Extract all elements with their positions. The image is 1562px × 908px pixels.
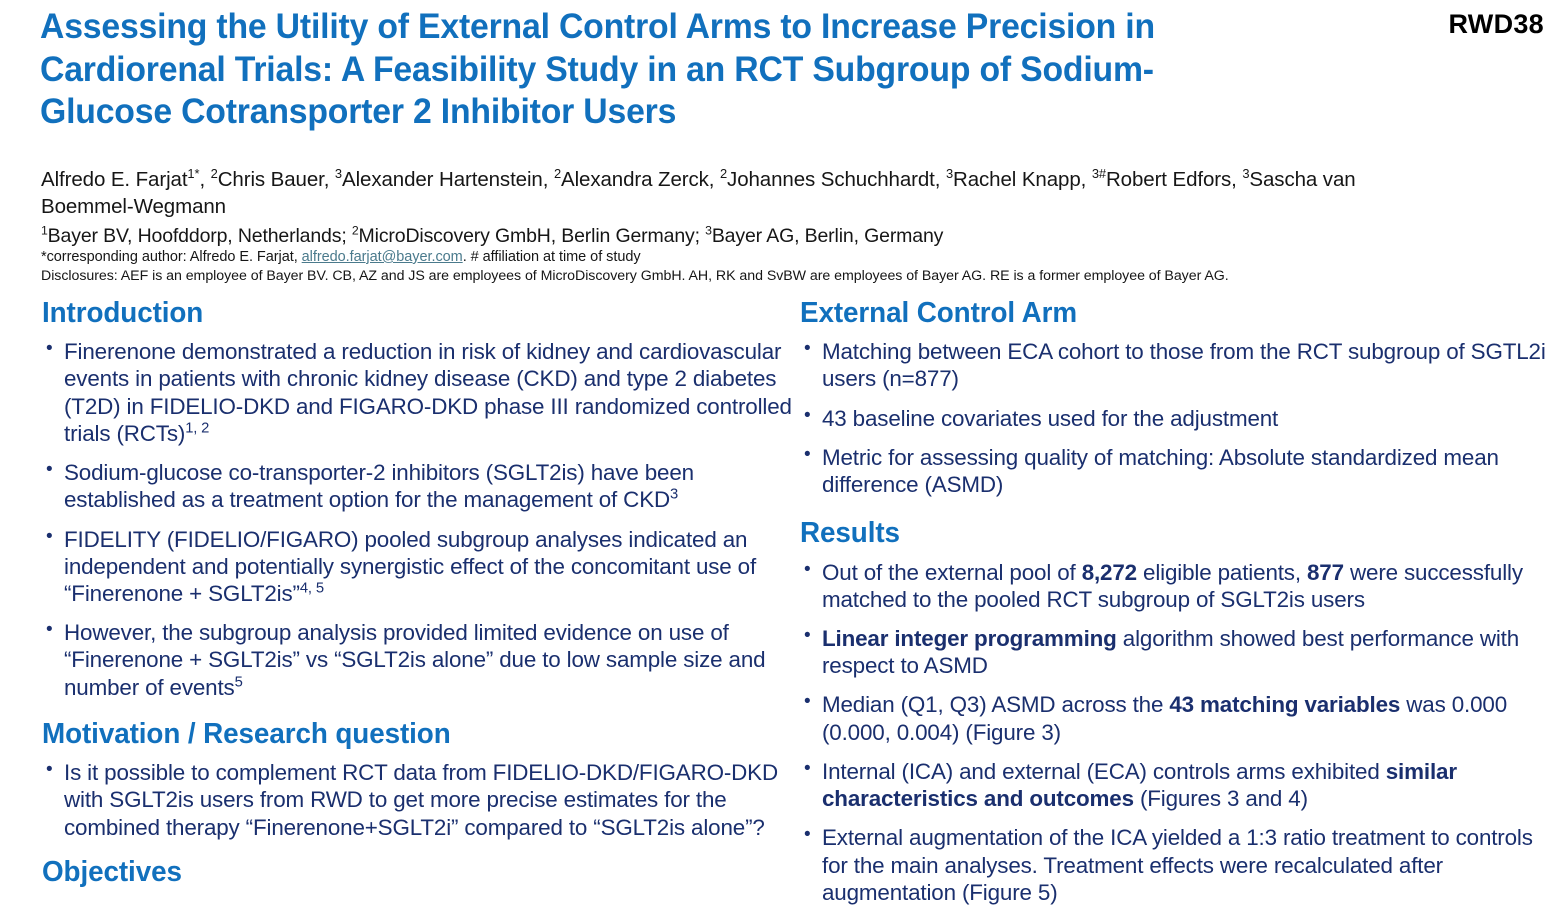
section-objectives: Objectives: [42, 855, 794, 889]
bullet-item: Linear integer programming algorithm sho…: [800, 625, 1552, 679]
author-list: Alfredo E. Farjat1*, 2Chris Bauer, 3Alex…: [41, 166, 1441, 221]
abstract-number-badge: RWD38: [1448, 9, 1544, 40]
right-column: External Control Arm Matching between EC…: [800, 296, 1552, 908]
affiliation-list: 1Bayer BV, Hoofddorp, Netherlands; 2Micr…: [41, 224, 1471, 248]
bullet-item: FIDELITY (FIDELIO/FIGARO) pooled subgrou…: [42, 526, 794, 608]
bullet-item: Is it possible to complement RCT data fr…: [42, 759, 794, 841]
section-heading-introduction: Introduction: [42, 296, 764, 330]
page-title: Assessing the Utility of External Contro…: [40, 6, 1266, 134]
poster-canvas: Assessing the Utility of External Contro…: [0, 0, 1562, 894]
bullet-item: Out of the external pool of 8,272 eligib…: [800, 559, 1552, 613]
section-external-control-arm: External Control Arm Matching between EC…: [800, 296, 1552, 498]
bullet-list-external-control-arm: Matching between ECA cohort to those fro…: [800, 338, 1552, 498]
bullet-list-results: Out of the external pool of 8,272 eligib…: [800, 559, 1552, 906]
bullet-item: Metric for assessing quality of matching…: [800, 444, 1552, 498]
section-heading-external-control-arm: External Control Arm: [800, 296, 1522, 330]
bullet-item: Matching between ECA cohort to those fro…: [800, 338, 1552, 392]
bullet-item: 43 baseline covariates used for the adju…: [800, 405, 1552, 432]
section-introduction: Introduction Finerenone demonstrated a r…: [42, 296, 794, 701]
bullet-list-motivation: Is it possible to complement RCT data fr…: [42, 759, 794, 841]
bullet-item: Finerenone demonstrated a reduction in r…: [42, 338, 794, 447]
bullet-item: Sodium-glucose co-transporter-2 inhibito…: [42, 459, 794, 513]
corresponding-author-prefix: *corresponding author: Alfredo E. Farjat…: [41, 249, 302, 265]
corresponding-author-suffix: . # affiliation at time of study: [463, 249, 641, 265]
bullet-item: Internal (ICA) and external (ECA) contro…: [800, 758, 1552, 812]
corresponding-author-line: *corresponding author: Alfredo E. Farjat…: [41, 248, 1471, 267]
section-heading-motivation: Motivation / Research question: [42, 717, 764, 751]
corresponding-email-link[interactable]: alfredo.farjat@bayer.com: [302, 249, 463, 265]
section-motivation: Motivation / Research question Is it pos…: [42, 717, 794, 841]
bullet-item: However, the subgroup analysis provided …: [42, 619, 794, 701]
bullet-item: Median (Q1, Q3) ASMD across the 43 match…: [800, 691, 1552, 745]
section-results: Results Out of the external pool of 8,27…: [800, 516, 1552, 906]
left-column: Introduction Finerenone demonstrated a r…: [42, 296, 794, 897]
section-heading-results: Results: [800, 516, 1522, 550]
bullet-list-introduction: Finerenone demonstrated a reduction in r…: [42, 338, 794, 701]
disclosures-line: Disclosures: AEF is an employee of Bayer…: [41, 267, 1501, 285]
section-heading-objectives: Objectives: [42, 855, 764, 889]
title-block: Assessing the Utility of External Contro…: [40, 6, 1310, 134]
